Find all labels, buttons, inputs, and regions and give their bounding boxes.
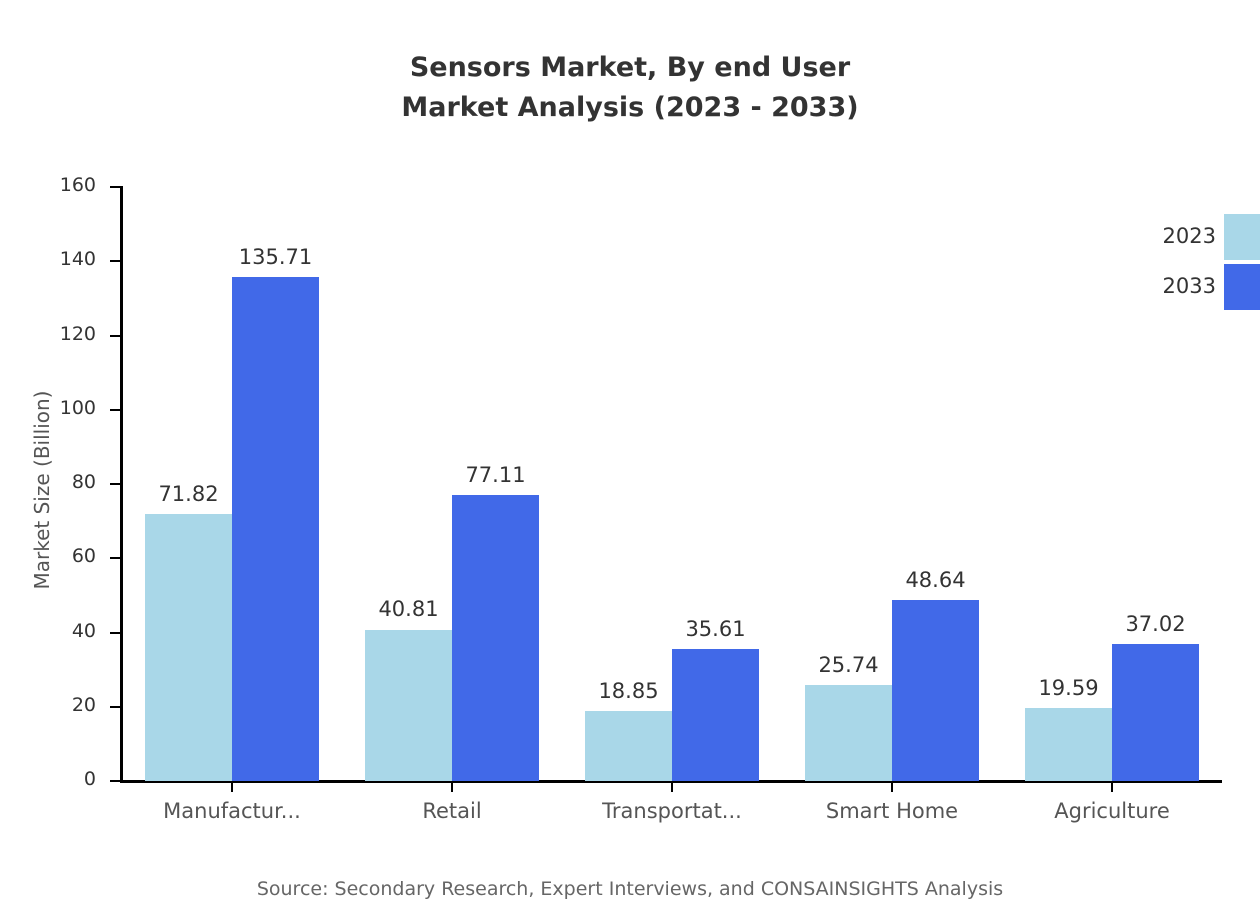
- source-note: Source: Secondary Research, Expert Inter…: [0, 878, 1260, 900]
- chart-title-line-2: Market Analysis (2023 - 2033): [0, 88, 1260, 128]
- bar-value-label: 18.85: [569, 679, 689, 703]
- bar-value-label: 19.59: [1009, 676, 1129, 700]
- bar-value-label: 77.11: [436, 463, 556, 487]
- y-axis-tick-label: 40: [32, 620, 96, 642]
- x-axis-tick-label: Smart Home: [782, 799, 1002, 823]
- bar-2033-Manufactur...[interactable]: [232, 277, 319, 781]
- x-axis-tick: [671, 781, 673, 792]
- y-axis-tick: [110, 483, 122, 485]
- x-axis-tick-label: Transportat...: [562, 799, 782, 823]
- bar-value-label: 37.02: [1096, 612, 1216, 636]
- x-axis-tick-label: Retail: [342, 799, 562, 823]
- legend: 2023 2033: [1130, 214, 1260, 314]
- y-axis-tick: [110, 260, 122, 262]
- bar-2023-Transportat...[interactable]: [585, 711, 672, 781]
- bar-2033-Transportat...[interactable]: [672, 649, 759, 781]
- bar-2023-Manufactur...[interactable]: [145, 514, 232, 781]
- y-axis-tick-label: 160: [32, 174, 96, 196]
- bar-value-label: 35.61: [656, 617, 776, 641]
- y-axis-tick: [110, 186, 122, 188]
- x-axis-tick-label: Agriculture: [1002, 799, 1222, 823]
- x-axis-tick: [451, 781, 453, 792]
- y-axis-tick-label: 0: [32, 768, 96, 790]
- bar-2033-Smart Home[interactable]: [892, 600, 979, 781]
- legend-item-2023[interactable]: 2023: [1130, 214, 1260, 260]
- legend-swatch-2023: [1224, 214, 1260, 260]
- bar-value-label: 25.74: [789, 653, 909, 677]
- x-axis-tick: [891, 781, 893, 792]
- y-axis-tick-label: 60: [32, 545, 96, 567]
- legend-swatch-2033: [1224, 264, 1260, 310]
- chart-title-line-1: Sensors Market, By end User: [0, 48, 1260, 88]
- y-axis-tick: [110, 557, 122, 559]
- y-axis-tick: [110, 780, 122, 782]
- y-axis-tick-label: 140: [32, 248, 96, 270]
- bar-value-label: 48.64: [876, 568, 996, 592]
- y-axis-tick-label: 80: [32, 471, 96, 493]
- bar-chart: Sensors Market, By end User Market Analy…: [0, 0, 1260, 920]
- y-axis-tick: [110, 706, 122, 708]
- x-axis-tick: [1111, 781, 1113, 792]
- y-axis-tick: [110, 409, 122, 411]
- plot-area: 020406080100120140160Manufactur...71.821…: [122, 187, 1222, 781]
- y-axis-tick-label: 120: [32, 323, 96, 345]
- chart-title: Sensors Market, By end User Market Analy…: [0, 48, 1260, 128]
- bar-2023-Agriculture[interactable]: [1025, 708, 1112, 781]
- y-axis-tick: [110, 632, 122, 634]
- bar-value-label: 40.81: [349, 597, 469, 621]
- x-axis-tick: [231, 781, 233, 792]
- legend-item-2033[interactable]: 2033: [1130, 264, 1260, 310]
- bar-value-label: 71.82: [129, 482, 249, 506]
- bar-2033-Agriculture[interactable]: [1112, 644, 1199, 781]
- legend-label-2033: 2033: [1130, 274, 1216, 298]
- bar-value-label: 135.71: [216, 245, 336, 269]
- bar-2023-Retail[interactable]: [365, 630, 452, 782]
- bar-2033-Retail[interactable]: [452, 495, 539, 781]
- bar-2023-Smart Home[interactable]: [805, 685, 892, 781]
- legend-label-2023: 2023: [1130, 224, 1216, 248]
- y-axis-tick: [110, 335, 122, 337]
- x-axis-tick-label: Manufactur...: [122, 799, 342, 823]
- y-axis-tick-label: 100: [32, 397, 96, 419]
- y-axis-tick-label: 20: [32, 694, 96, 716]
